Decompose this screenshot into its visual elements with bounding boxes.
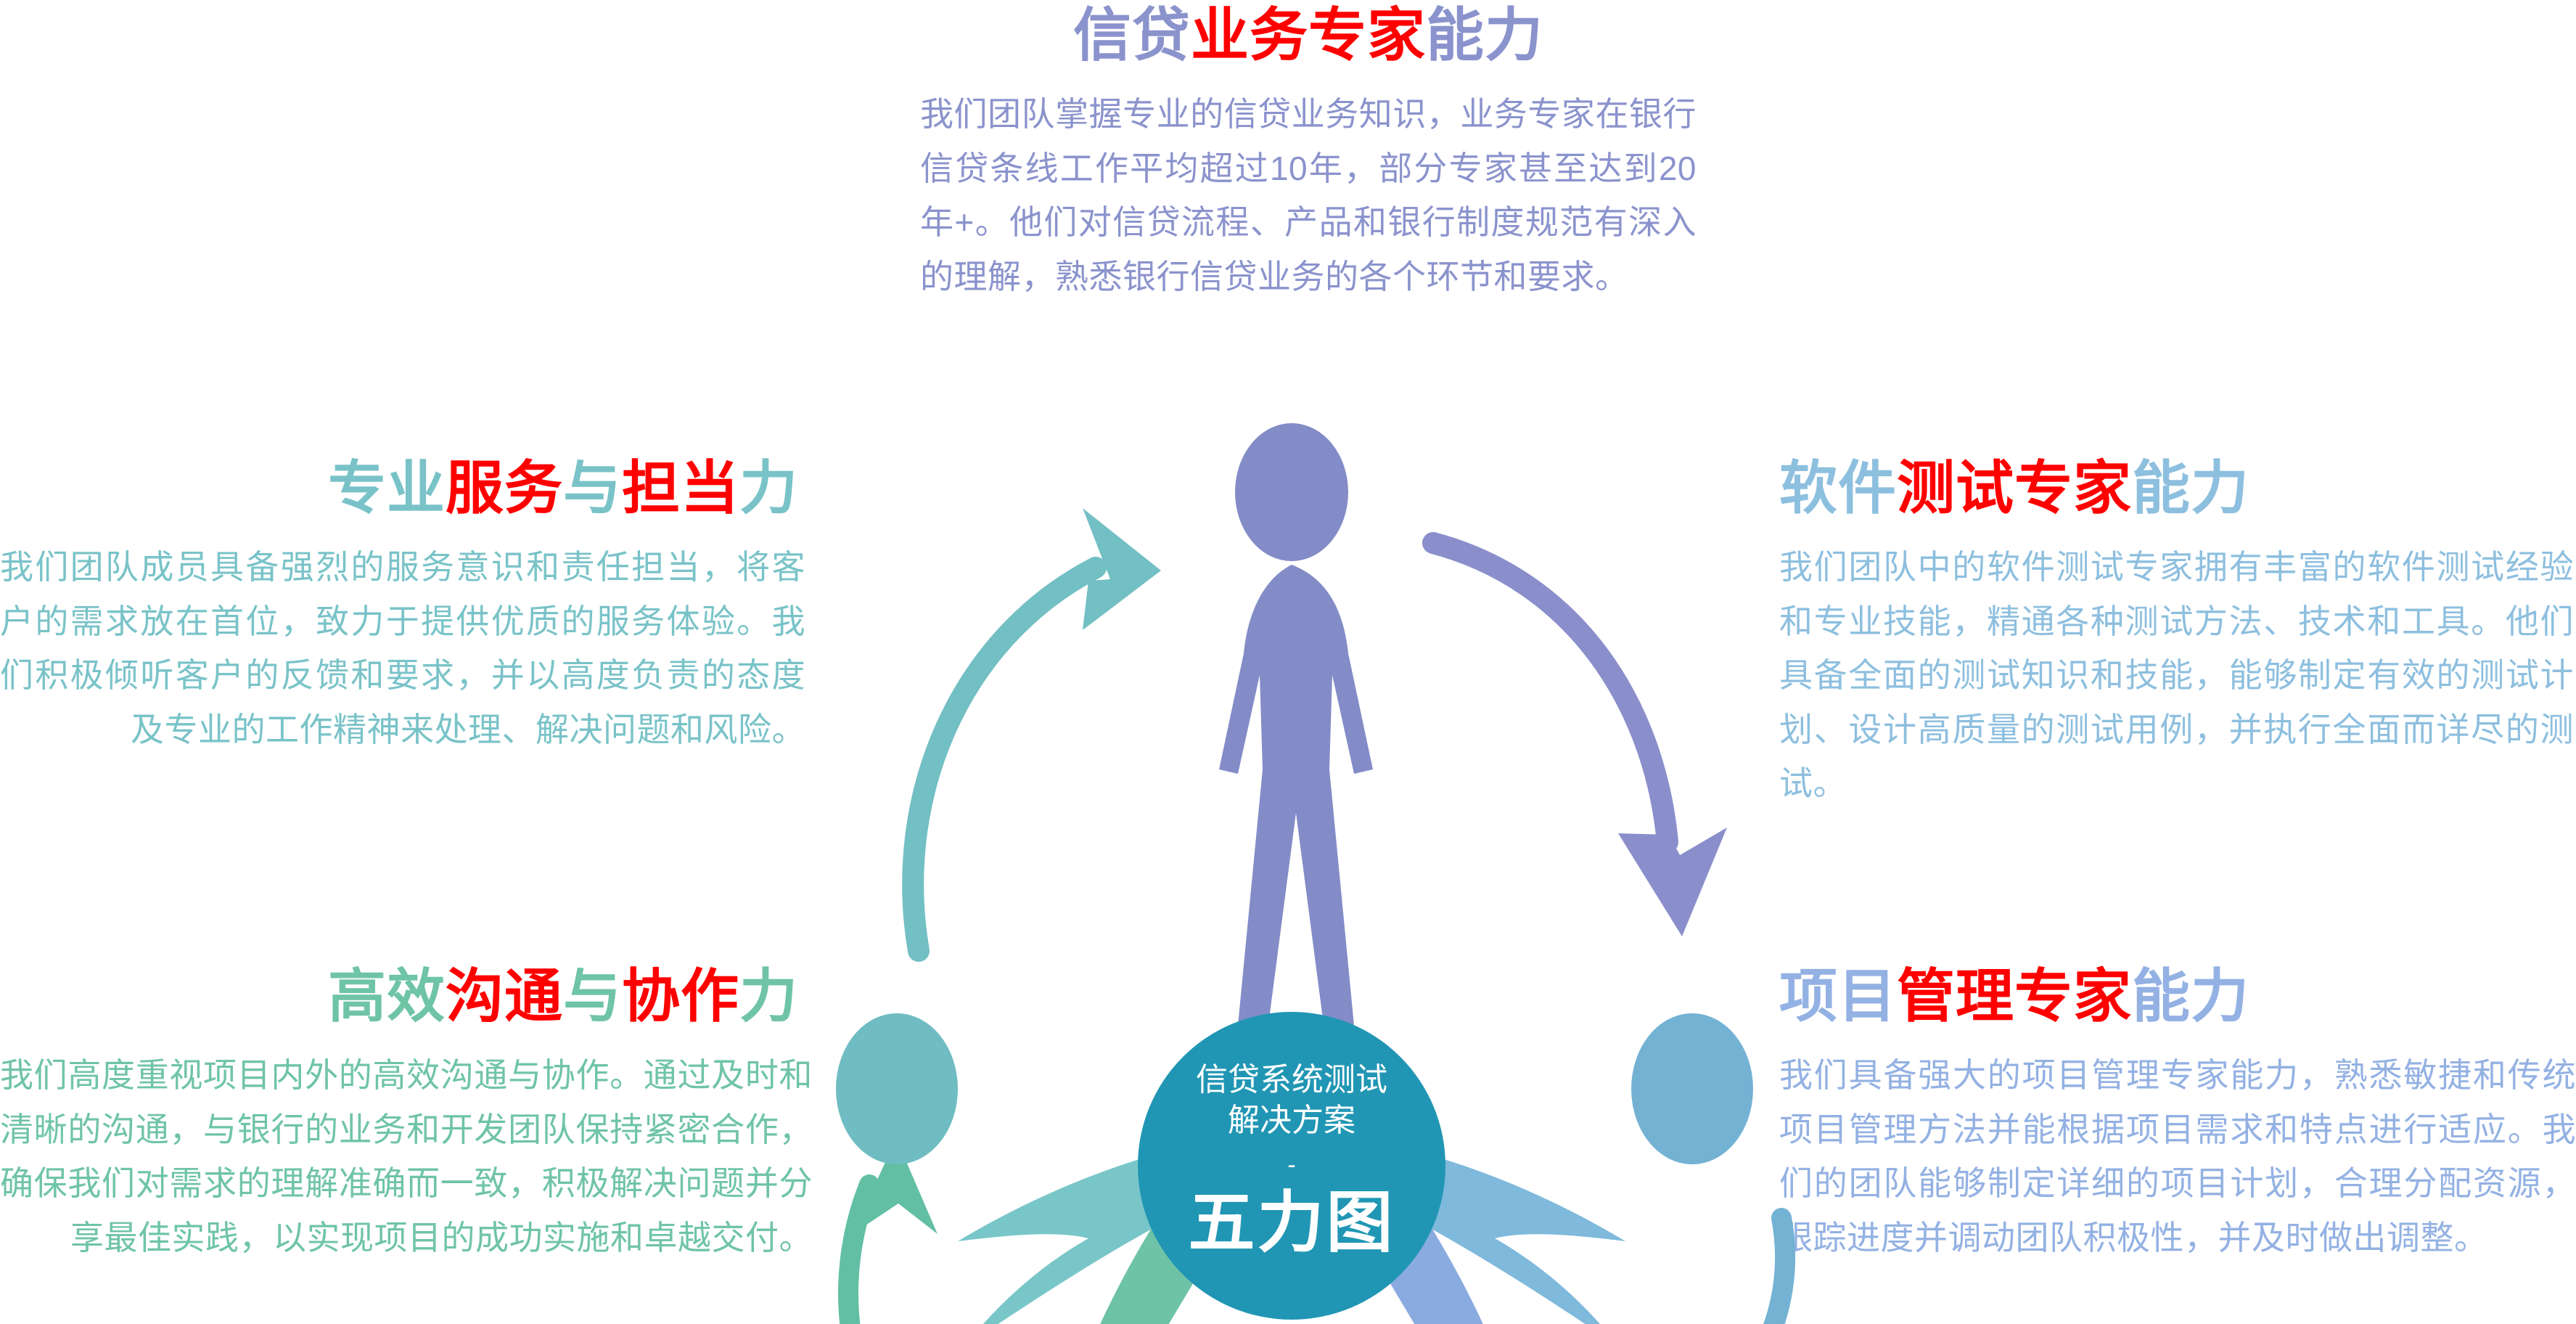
section-pm-body: 我们具备强大的项目管理专家能力，熟悉敏捷和传统项目管理方法并能根据项目需求和特点… xyxy=(1779,1048,2576,1264)
infographic-canvas: 信贷业务专家能力 我们团队掌握专业的信贷业务知识，业务专家在银行信贷条线工作平均… xyxy=(0,0,2576,1324)
heading-part-highlight: 担当 xyxy=(622,456,739,520)
heading-part: 能力 xyxy=(2132,964,2249,1029)
hub-line-2: 解决方案 xyxy=(1228,1103,1355,1138)
heading-part-highlight: 协作 xyxy=(622,964,739,1029)
section-service-commitment: 专业服务与担当力 我们团队成员具备强烈的服务意识和责任担当，将客户的需求放在首位… xyxy=(0,457,805,756)
heading-part-highlight: 业务专家 xyxy=(1191,3,1426,68)
section-credit-heading: 信贷业务专家能力 xyxy=(920,4,1697,67)
heading-part: 信贷 xyxy=(1073,3,1191,68)
section-communication: 高效沟通与协作力 我们高度重视项目内外的高效沟通与协作。通过及时和清晰的沟通，与… xyxy=(0,965,813,1264)
circle-node-left xyxy=(836,1013,958,1164)
section-testing-heading: 软件测试专家能力 xyxy=(1779,457,2574,520)
heading-part: 与 xyxy=(563,456,622,520)
ring-arrow-communication-to-service xyxy=(848,1138,938,1324)
ring-arrow-person-to-testing xyxy=(1433,543,1727,936)
heading-part: 能力 xyxy=(1426,3,1543,68)
hub-divider: - xyxy=(1287,1151,1295,1179)
heading-part-highlight: 管理专家 xyxy=(1897,964,2132,1029)
five-forces-diagram: 信贷系统测试 解决方案 - 五力图 xyxy=(784,363,1800,1324)
section-testing-body: 我们团队中的软件测试专家拥有丰富的软件测试经验和专业技能，精通各种测试方法、技术… xyxy=(1779,540,2574,811)
heading-part: 与 xyxy=(563,964,622,1029)
section-communication-body: 我们高度重视项目内外的高效沟通与协作。通过及时和清晰的沟通，与银行的业务和开发团… xyxy=(0,1048,813,1264)
section-service-heading: 专业服务与担当力 xyxy=(0,457,805,520)
ring-arrow-service-to-person xyxy=(913,508,1161,951)
heading-part: 高效 xyxy=(328,964,446,1029)
heading-part-highlight: 测试专家 xyxy=(1897,456,2132,520)
hub-title: 五力图 xyxy=(1188,1186,1395,1260)
heading-part: 能力 xyxy=(2132,456,2249,520)
section-credit-expertise: 信贷业务专家能力 我们团队掌握专业的信贷业务知识，业务专家在银行信贷条线工作平均… xyxy=(920,4,1697,303)
ring-arrow-testing-to-pm xyxy=(1640,1218,1785,1324)
hub-line-1: 信贷系统测试 xyxy=(1196,1062,1387,1098)
heading-part-highlight: 服务 xyxy=(446,456,563,520)
heading-part-highlight: 沟通 xyxy=(446,964,563,1029)
section-credit-body: 我们团队掌握专业的信贷业务知识，业务专家在银行信贷条线工作平均超过10年，部分专… xyxy=(920,87,1697,303)
section-service-body: 我们团队成员具备强烈的服务意识和责任担当，将客户的需求放在首位，致力于提供优质的… xyxy=(0,540,805,756)
section-pm-heading: 项目管理专家能力 xyxy=(1779,965,2576,1028)
heading-part: 专业 xyxy=(328,456,446,520)
section-project-management: 项目管理专家能力 我们具备强大的项目管理专家能力，熟悉敏捷和传统项目管理方法并能… xyxy=(1779,965,2576,1264)
circle-node-right xyxy=(1631,1013,1753,1164)
section-communication-heading: 高效沟通与协作力 xyxy=(0,965,813,1028)
section-software-testing: 软件测试专家能力 我们团队中的软件测试专家拥有丰富的软件测试经验和专业技能，精通… xyxy=(1779,457,2574,811)
